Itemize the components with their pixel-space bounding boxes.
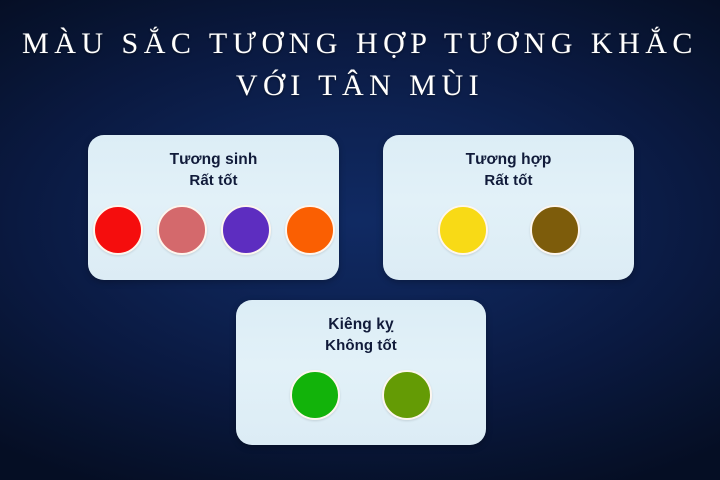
title-line-2: VỚI TÂN MÙI [0,68,720,104]
color-swatch-dark-brown [530,205,580,255]
card-subtitle: Rất tốt [466,170,552,191]
swatch-row [88,205,339,255]
title-line-1: MÀU SẮC TƯƠNG HỢP TƯƠNG KHẮC [0,26,720,62]
card-title: Tương sinh [170,149,258,170]
card-heading: Tương hợp Rất tốt [466,149,552,191]
card-tuong-sinh: Tương sinh Rất tốt [88,135,339,280]
card-title: Tương hợp [466,149,552,170]
card-heading: Kiêng kỵ Không tốt [325,314,397,356]
infographic-canvas: MÀU SẮC TƯƠNG HỢP TƯƠNG KHẮC VỚI TÂN MÙI… [0,0,720,480]
color-swatch-purple [221,205,271,255]
card-tuong-hop: Tương hợp Rất tốt [383,135,634,280]
color-swatch-olive-green [382,370,432,420]
color-swatch-yellow [438,205,488,255]
color-swatch-red [93,205,143,255]
page-title: MÀU SẮC TƯƠNG HỢP TƯƠNG KHẮC VỚI TÂN MÙI [0,26,720,104]
swatch-row [383,205,634,255]
card-subtitle: Không tốt [325,335,397,356]
color-swatch-green [290,370,340,420]
card-kieng-ky: Kiêng kỵ Không tốt [236,300,486,445]
swatch-row [236,370,486,420]
card-heading: Tương sinh Rất tốt [170,149,258,191]
color-swatch-orange [285,205,335,255]
color-swatch-rosy-brown [157,205,207,255]
card-subtitle: Rất tốt [170,170,258,191]
card-title: Kiêng kỵ [325,314,397,335]
